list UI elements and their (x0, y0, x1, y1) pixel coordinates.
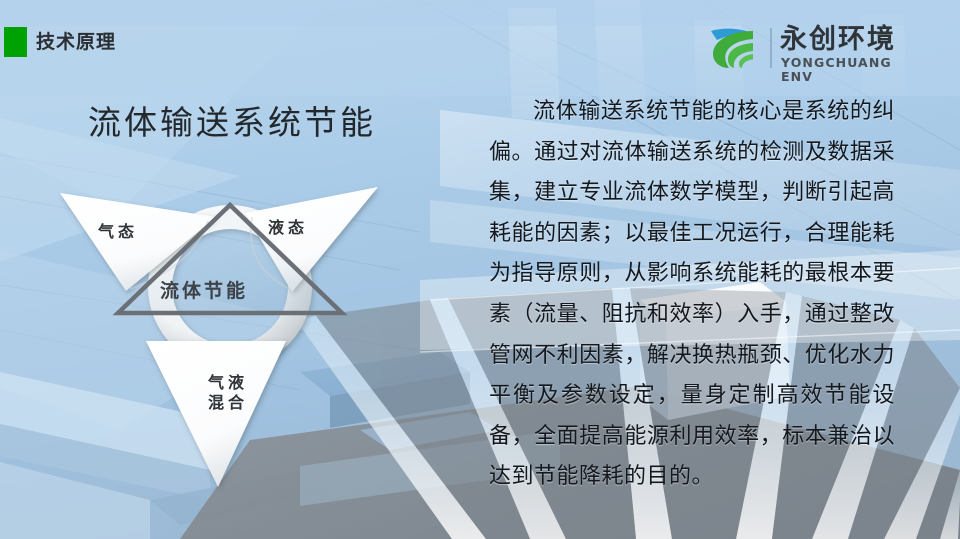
header-accent-chip (4, 27, 27, 57)
diagram-label-gas: 气态 (98, 222, 138, 242)
logo-divider (770, 28, 772, 68)
diagram-label-mixed: 气液 混合 (188, 373, 268, 413)
page-title: 流体输送系统节能 (88, 101, 376, 145)
presentation-slide: 技术原理 永创环境 YONGCHUANG ENV 流体输送系统节能 (0, 0, 960, 539)
header-title: 技术原理 (36, 28, 116, 56)
company-logo: 永创环境 YONGCHUANG ENV (708, 24, 904, 72)
body-paragraph: 流体输送系统节能的核心是系统的纠偏。通过对流体输送系统的检测及数据采集，建立专业… (489, 92, 895, 498)
slide-header: 技术原理 永创环境 YONGCHUANG ENV (0, 0, 960, 84)
diagram-label-mixed-line2: 混合 (188, 393, 268, 413)
yongchuang-leaf-icon (708, 27, 762, 69)
diagram-label-liquid: 液态 (268, 218, 308, 238)
logo-name-cn: 永创环境 (780, 25, 896, 55)
fluid-energy-diagram: 气态 液态 气液 混合 流体节能 (40, 175, 420, 505)
diagram-label-mixed-line1: 气液 (188, 373, 268, 393)
diagram-center-label: 流体节能 (160, 280, 248, 304)
logo-name-en: YONGCHUANG ENV (781, 56, 904, 84)
